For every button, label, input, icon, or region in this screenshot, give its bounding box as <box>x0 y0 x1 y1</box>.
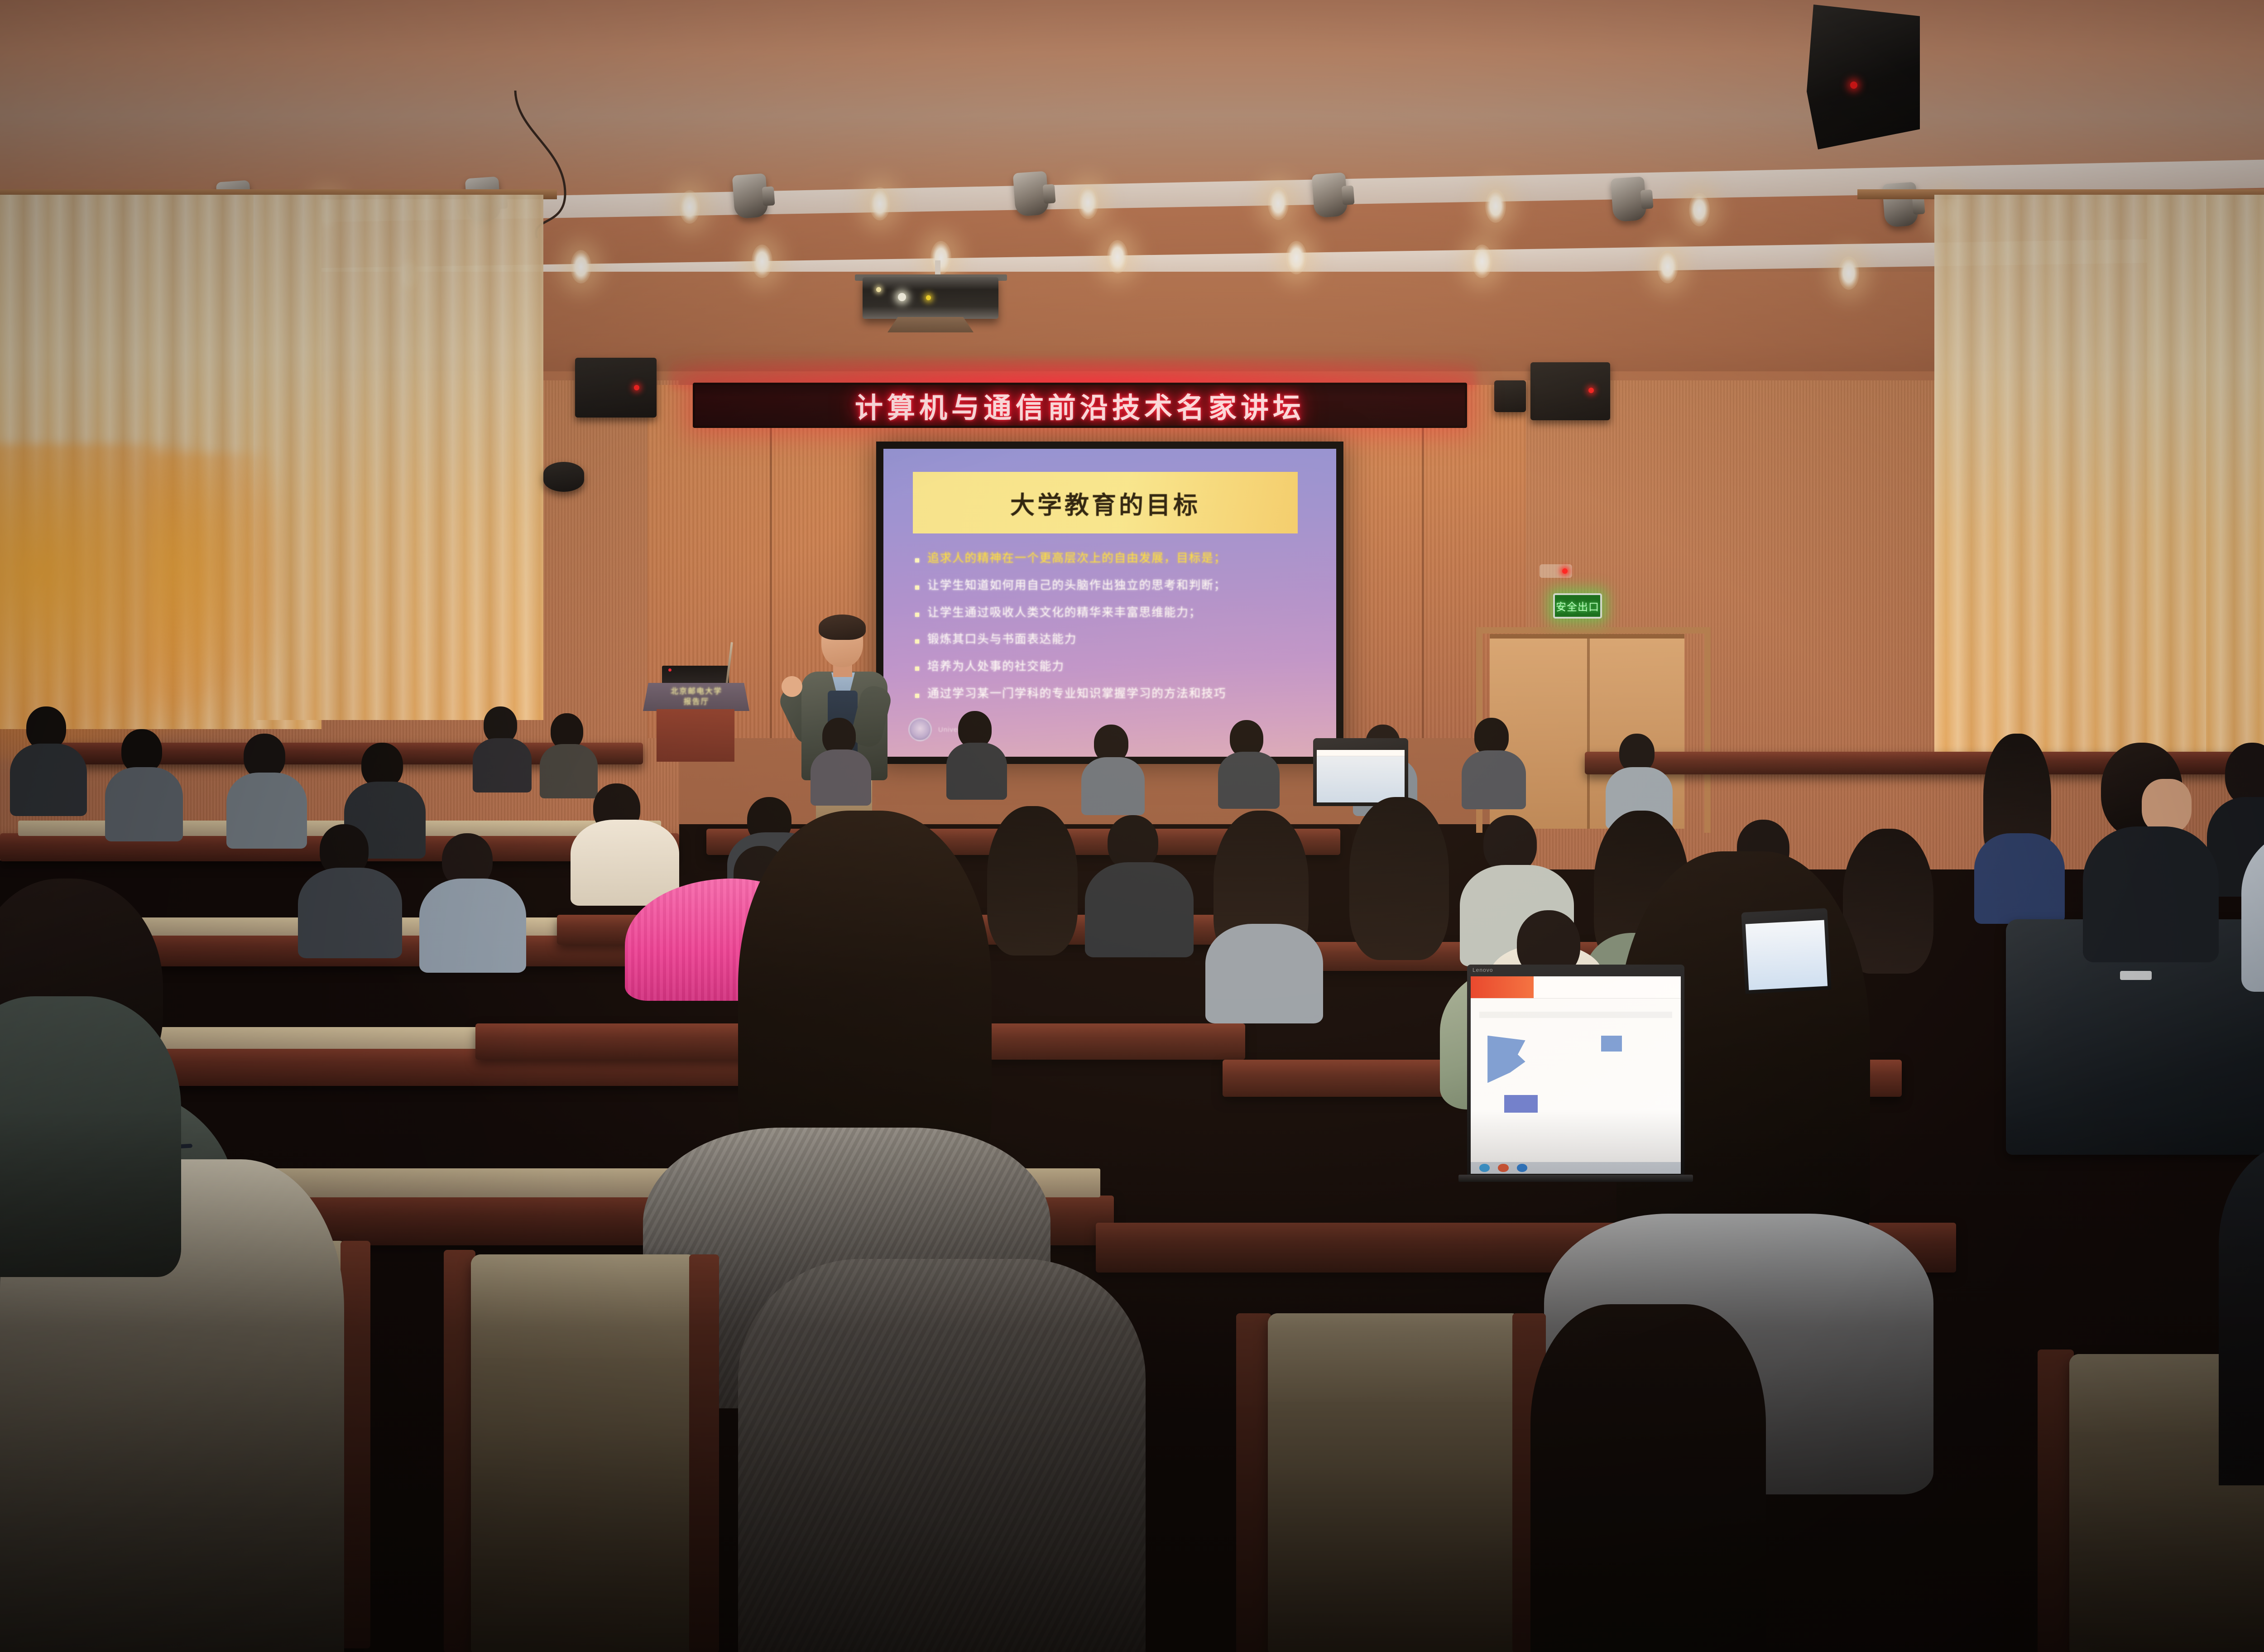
person-torso <box>946 743 1007 800</box>
laptop[interactable] <box>1313 738 1408 806</box>
bullet-dot-icon <box>915 613 919 617</box>
app-icon[interactable] <box>1498 1164 1508 1172</box>
presenter-left-hand <box>782 676 802 697</box>
ceiling-spotlight-fixture <box>1882 182 1919 228</box>
slide-bullet-text: 锻炼其口头与书面表达能力 <box>927 633 1077 647</box>
chair-frame <box>689 1254 719 1652</box>
slide-bullet-text: 培养为人处事的社交能力 <box>927 660 1065 674</box>
person-torso <box>540 744 598 798</box>
page-chart-swatch <box>1601 1036 1622 1052</box>
page-button[interactable] <box>1504 1095 1538 1113</box>
person-head <box>361 743 403 788</box>
podium-label-line1: 北京邮电大学 <box>665 687 728 697</box>
podium-label: 北京邮电大学 报告厅 <box>665 687 728 707</box>
slide-title-text: 大学教育的目标 <box>1010 485 1200 521</box>
projector-led <box>898 293 906 301</box>
curtain-left-inner <box>254 195 543 720</box>
person-torso <box>10 744 87 816</box>
slide-bullet: 培养为人处事的社交能力 <box>915 660 1314 674</box>
led-banner-text: 计算机与通信前沿技术名家讲坛 <box>855 385 1305 426</box>
browser-brand-header <box>1471 976 1534 998</box>
presenter-hair <box>819 615 866 640</box>
speaker-power-led <box>634 385 639 390</box>
person-torso <box>811 749 871 806</box>
person-jacket <box>2219 1141 2264 1485</box>
ceiling-downlight <box>1485 189 1506 223</box>
slide-bullet-text: 通过学习某一门学科的专业知识掌握学习的方法和技巧 <box>927 687 1226 701</box>
laptop-screen[interactable] <box>1471 976 1681 1174</box>
chair-frame <box>341 1241 370 1648</box>
laptop-app-titlebar <box>1317 750 1405 756</box>
ceiling-spotlight-fixture <box>1611 177 1647 222</box>
chair-seat[interactable] <box>471 1254 697 1652</box>
ceiling-downlight <box>679 190 700 224</box>
laptop-lid <box>1313 738 1408 806</box>
projector-led <box>876 287 881 292</box>
podium: 北京邮电大学 报告厅 <box>643 666 749 761</box>
person-torso <box>2083 826 2219 962</box>
curtain-right-inner <box>1934 195 2206 756</box>
backpack-brand-tag <box>2120 971 2152 980</box>
person-knit-sweater <box>738 1259 1146 1652</box>
laptop-lid <box>1741 908 1831 994</box>
laptop-screen <box>1317 750 1405 802</box>
person-torso <box>1974 833 2065 924</box>
podium-label-line2: 报告厅 <box>665 697 728 707</box>
projection-screen: 大学教育的目标 追求人的精神在一个更高层次上的自由发展，目标是； 让学生知道如何… <box>883 449 1336 757</box>
wall-speaker-right-bracket <box>1494 380 1526 412</box>
slide-bullet-list: 追求人的精神在一个更高层次上的自由发展，目标是； 让学生知道如何用自己的头脑作出… <box>915 552 1314 715</box>
podium-monitor <box>662 666 729 686</box>
laptop-screen <box>1746 920 1828 990</box>
ceiling-downlight <box>1838 256 1859 290</box>
slide-bullet-text: 让学生知道如何用自己的头脑作出独立的思考和判断； <box>927 579 1226 593</box>
person-long-hair <box>1530 1304 1766 1652</box>
laptop-secondary[interactable] <box>1741 908 1831 994</box>
ceiling-downlight <box>752 245 772 278</box>
person-torso <box>1218 752 1280 809</box>
ie-icon[interactable] <box>1517 1164 1527 1172</box>
person-torso <box>1205 924 1323 1023</box>
person-torso <box>1462 750 1526 809</box>
person-head <box>244 734 285 779</box>
wall-panel-seam <box>1422 385 1424 738</box>
laptop-browser[interactable]: Lenovo <box>1467 965 1684 1177</box>
speaker-power-led <box>1850 82 1857 89</box>
person-hoodie <box>571 820 679 906</box>
slide-bullet-text: 让学生通过吸收人类文化的精华来丰富思维能力； <box>927 606 1201 620</box>
slide-title-banner: 大学教育的目标 <box>913 472 1298 533</box>
person-torso <box>298 868 402 958</box>
ceiling-downlight <box>1689 193 1710 226</box>
ceiling-spotlight-fixture <box>1312 173 1348 218</box>
projector-led <box>926 295 931 300</box>
person-torso <box>105 767 183 841</box>
browser-titlebar <box>1471 976 1681 999</box>
university-crest-icon <box>908 718 932 741</box>
ceiling-downlight <box>869 187 890 221</box>
ceiling-downlight <box>571 250 591 283</box>
exit-sign-label: 安全出口 <box>1556 598 1599 614</box>
ceiling-downlight <box>1472 245 1492 278</box>
laptop-lid: Lenovo <box>1467 965 1684 1177</box>
wall-speaker-left <box>575 358 657 418</box>
ceiling-projector <box>863 277 998 319</box>
speaker-power-led <box>1588 388 1594 393</box>
slide-bullet: 让学生知道如何用自己的头脑作出独立的思考和判断； <box>915 579 1314 593</box>
bullet-dot-icon <box>915 586 919 590</box>
ceiling-downlight <box>1078 186 1098 219</box>
browser-icon[interactable] <box>1479 1164 1490 1172</box>
ceiling-spotlight-fixture <box>1013 171 1050 217</box>
person-face <box>2142 779 2192 833</box>
person-long-hair <box>987 806 1078 956</box>
lecture-hall-photo: 安全出口 计算机与通信前沿技术名家讲坛 大学教育的目标 <box>0 0 2264 1652</box>
podium-body <box>657 709 734 762</box>
page-chart <box>1487 1036 1525 1083</box>
person-torso <box>1085 862 1194 957</box>
slide-bullet-text: 追求人的精神在一个更高层次上的自由发展，目标是； <box>927 552 1226 566</box>
person-torso <box>1081 757 1145 815</box>
bullet-dot-icon <box>915 639 919 644</box>
ceiling-downlight <box>1286 241 1307 274</box>
podium-monitor-led <box>668 668 672 672</box>
ceiling-spotlight-fixture <box>732 173 769 219</box>
chair-frame <box>1236 1313 1271 1652</box>
person-long-hair <box>1349 797 1449 960</box>
bullet-dot-icon <box>915 694 919 698</box>
person-jacket <box>0 996 181 1277</box>
browser-toolbar <box>1479 1012 1673 1018</box>
person-torso <box>473 738 532 792</box>
laptop-brand-label: Lenovo <box>1473 967 1493 973</box>
slide-bullet: 通过学习某一门学科的专业知识掌握学习的方法和技巧 <box>915 687 1314 701</box>
wall-panel-seam <box>770 385 772 738</box>
ceiling-downlight <box>1268 187 1289 220</box>
wall-speaker-small <box>543 462 584 492</box>
bullet-dot-icon <box>915 667 919 671</box>
hanging-speaker <box>1807 5 1920 149</box>
ceiling-downlight <box>1657 250 1678 283</box>
chair-headrest <box>1268 1313 1521 1402</box>
chair-seat[interactable] <box>1268 1313 1521 1652</box>
slide-bullet: 追求人的精神在一个更高层次上的自由发展，目标是； <box>915 552 1314 566</box>
laptop-base <box>1458 1175 1693 1182</box>
bullet-dot-icon <box>915 558 919 562</box>
person-head <box>1483 815 1537 873</box>
slide-bullet: 让学生通过吸收人类文化的精华来丰富思维能力； <box>915 606 1314 620</box>
window-backlight-glow <box>149 453 285 734</box>
led-banner: 计算机与通信前沿技术名家讲坛 <box>693 383 1467 428</box>
ceiling-downlight <box>1107 240 1128 274</box>
person-torso <box>419 879 526 973</box>
slide-bullet: 锻炼其口头与书面表达能力 <box>915 633 1314 647</box>
projector-shadow-base <box>887 317 974 332</box>
chair-headrest <box>471 1254 697 1358</box>
exit-sign: 安全出口 <box>1553 593 1602 619</box>
person-torso <box>226 773 307 849</box>
chair-frame <box>2038 1349 2074 1652</box>
projection-screen-frame: 大学教育的目标 追求人的精神在一个更高层次上的自由发展，目标是； 让学生知道如何… <box>876 442 1343 764</box>
ceiling-downlight <box>931 241 951 274</box>
wall-speaker-right <box>1530 362 1610 420</box>
